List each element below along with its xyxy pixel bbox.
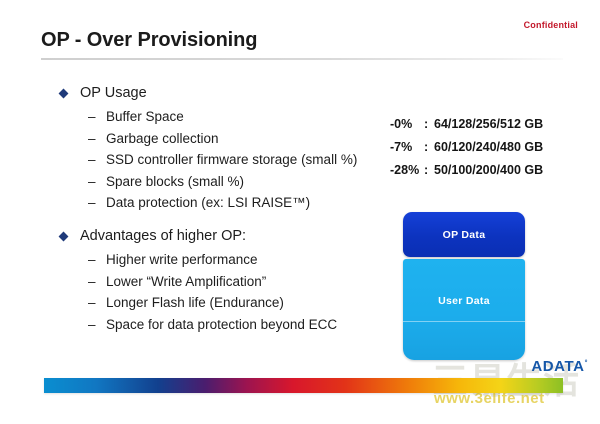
bullet-heading-op-usage: OP Usage — [58, 83, 357, 103]
list-item: – Higher write performance — [58, 249, 337, 271]
capacity-percent: -28% — [390, 159, 424, 182]
list-item: – Lower “Write Amplification” — [58, 271, 337, 293]
adata-logo-trademark-icon: ° — [585, 360, 588, 367]
bottom-gradient-bar — [44, 378, 563, 393]
user-data-label: User Data — [403, 295, 525, 307]
title-divider — [41, 58, 563, 60]
capacity-values: 64/128/256/512 GB — [434, 113, 543, 136]
list-item-label: Longer Flash life (Endurance) — [106, 295, 284, 310]
dash-marker-icon: – — [88, 192, 96, 214]
dash-marker-icon: – — [88, 171, 96, 193]
bullet-group-advantages: Advantages of higher OP: – Higher write … — [58, 226, 337, 335]
list-item: – Spare blocks (small %) — [58, 171, 357, 193]
list-item: – SSD controller firmware storage (small… — [58, 149, 357, 171]
list-item: – Buffer Space — [58, 106, 357, 128]
dash-marker-icon: – — [88, 149, 96, 171]
list-item-label: Data protection (ex: LSI RAISE™) — [106, 195, 310, 210]
table-row: -28% : 50/100/200/400 GB — [390, 159, 543, 182]
dash-marker-icon: – — [88, 314, 96, 336]
op-data-block: OP Data — [403, 212, 525, 257]
user-data-block: User Data — [403, 259, 525, 360]
dash-marker-icon: – — [88, 106, 96, 128]
capacity-separator: : — [424, 159, 434, 182]
op-user-data-diagram: OP Data User Data — [403, 212, 525, 360]
dash-marker-icon: – — [88, 271, 96, 293]
capacity-separator: : — [424, 113, 434, 136]
bullet-heading-label: OP Usage — [80, 85, 147, 101]
slide-canvas: Confidential OP - Over Provisioning OP U… — [0, 0, 600, 424]
sub-bullet-list-op-usage: – Buffer Space – Garbage collection – SS… — [58, 106, 357, 214]
bullet-heading-advantages: Advantages of higher OP: — [58, 226, 337, 246]
diamond-bullet-icon — [59, 232, 69, 242]
list-item-label: Higher write performance — [106, 252, 258, 267]
capacity-values: 60/120/240/480 GB — [434, 136, 543, 159]
diamond-bullet-icon — [59, 89, 69, 99]
list-item: – Space for data protection beyond ECC — [58, 314, 337, 336]
dash-marker-icon: – — [88, 292, 96, 314]
capacity-percent: -7% — [390, 136, 424, 159]
list-item-label: Space for data protection beyond ECC — [106, 317, 337, 332]
op-data-label: OP Data — [443, 229, 486, 241]
list-item-label: Garbage collection — [106, 131, 219, 146]
capacity-values: 50/100/200/400 GB — [434, 159, 543, 182]
bullet-group-op-usage: OP Usage – Buffer Space – Garbage collec… — [58, 83, 357, 214]
adata-logo: ADATA° — [531, 358, 588, 375]
list-item: – Data protection (ex: LSI RAISE™) — [58, 192, 357, 214]
list-item-label: SSD controller firmware storage (small %… — [106, 152, 357, 167]
list-item-label: Lower “Write Amplification” — [106, 274, 266, 289]
table-row: -0% : 64/128/256/512 GB — [390, 113, 543, 136]
capacity-percent: -0% — [390, 113, 424, 136]
dash-marker-icon: – — [88, 128, 96, 150]
page-title: OP - Over Provisioning — [41, 29, 257, 52]
dash-marker-icon: – — [88, 249, 96, 271]
sub-bullet-list-advantages: – Higher write performance – Lower “Writ… — [58, 249, 337, 335]
bullet-heading-label: Advantages of higher OP: — [80, 228, 246, 244]
list-item: – Garbage collection — [58, 128, 357, 150]
confidential-label: Confidential — [524, 20, 578, 30]
adata-logo-text: ADATA — [531, 358, 584, 375]
capacity-separator: : — [424, 136, 434, 159]
table-row: -7% : 60/120/240/480 GB — [390, 136, 543, 159]
list-item: – Longer Flash life (Endurance) — [58, 292, 337, 314]
list-item-label: Spare blocks (small %) — [106, 174, 244, 189]
list-item-label: Buffer Space — [106, 109, 184, 124]
capacity-table: -0% : 64/128/256/512 GB -7% : 60/120/240… — [390, 113, 543, 182]
user-data-divider — [403, 321, 525, 322]
